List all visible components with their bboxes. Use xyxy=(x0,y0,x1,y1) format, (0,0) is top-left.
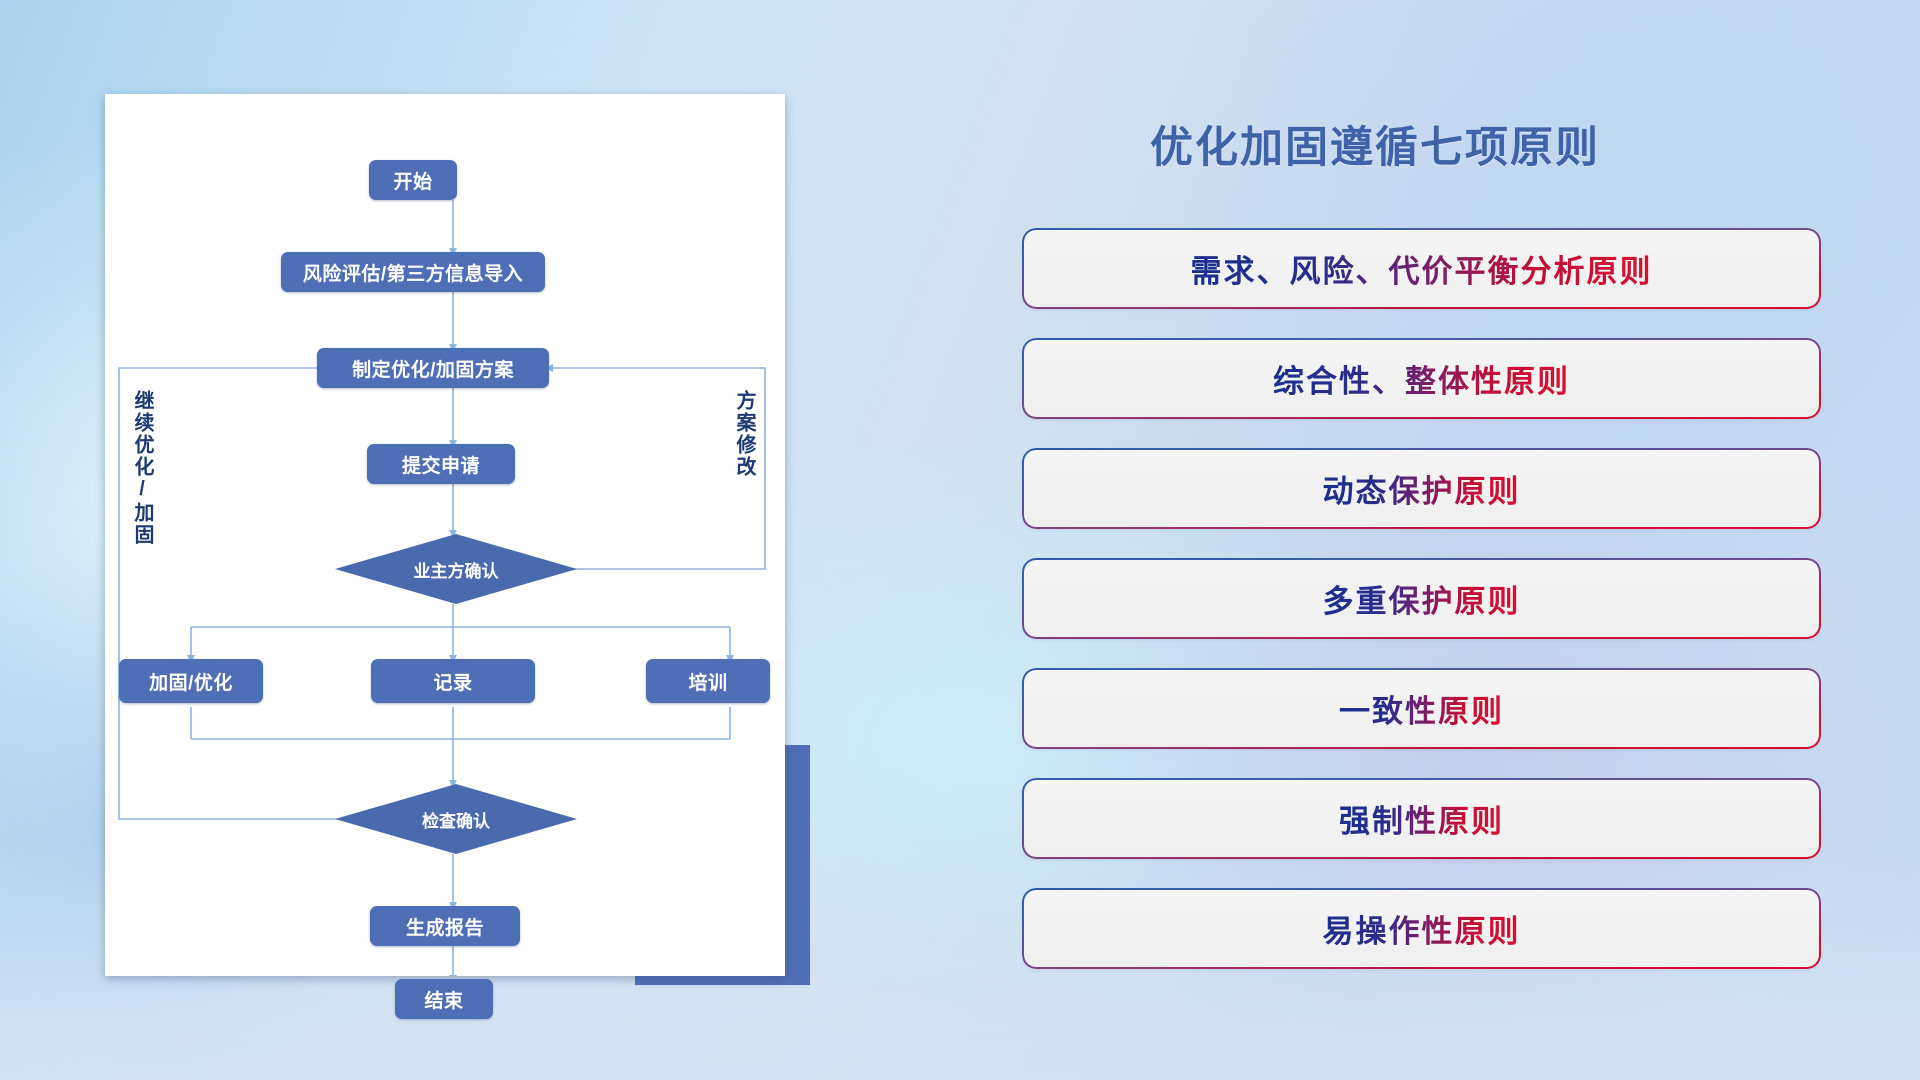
flow-node-start[interactable]: 开始 xyxy=(369,160,457,200)
principle-item[interactable]: 需求、风险、代价平衡分析原则 xyxy=(1024,230,1819,307)
flow-node-label: 培训 xyxy=(688,668,727,695)
principles-list: 需求、风险、代价平衡分析原则 综合性、整体性原则 动态保护原则 多重保护原则 一… xyxy=(1024,230,1819,1000)
edge-label-continue-optimize: 继续优化/加固 xyxy=(131,390,152,546)
flow-node-end[interactable]: 结束 xyxy=(395,979,493,1019)
principle-label: 一致性原则 xyxy=(1339,686,1504,731)
principle-item[interactable]: 综合性、整体性原则 xyxy=(1024,340,1819,417)
principle-label: 强制性原则 xyxy=(1339,796,1504,841)
principle-label: 多重保护原则 xyxy=(1323,576,1521,621)
flow-node-label: 检查确认 xyxy=(422,807,490,832)
principle-item[interactable]: 易操作性原则 xyxy=(1024,890,1819,967)
principle-label: 易操作性原则 xyxy=(1323,906,1521,951)
flow-node-label: 提交申请 xyxy=(402,451,480,478)
flowchart-card: 开始 风险评估/第三方信息导入 制定优化/加固方案 提交申请 业主方确认 加固/… xyxy=(105,94,785,976)
flow-node-label: 加固/优化 xyxy=(149,668,233,695)
flow-node-label: 记录 xyxy=(433,668,472,695)
flow-node-risk-assessment[interactable]: 风险评估/第三方信息导入 xyxy=(281,252,545,292)
flow-node-owner-confirm[interactable]: 业主方确认 xyxy=(335,534,577,604)
principle-label: 动态保护原则 xyxy=(1323,466,1521,511)
flow-node-label: 开始 xyxy=(393,167,432,194)
flow-node-submit-application[interactable]: 提交申请 xyxy=(367,444,515,484)
principle-label: 需求、风险、代价平衡分析原则 xyxy=(1191,246,1653,291)
principle-item[interactable]: 一致性原则 xyxy=(1024,670,1819,747)
flow-node-label: 业主方确认 xyxy=(414,557,499,582)
flow-node-label: 风险评估/第三方信息导入 xyxy=(303,259,523,286)
flow-node-training[interactable]: 培训 xyxy=(646,659,770,703)
principle-item[interactable]: 强制性原则 xyxy=(1024,780,1819,857)
page-title: 优化加固遵循七项原则 xyxy=(1150,113,1600,175)
principle-item[interactable]: 动态保护原则 xyxy=(1024,450,1819,527)
edge-label-plan-revision: 方案修改 xyxy=(733,390,754,478)
principle-item[interactable]: 多重保护原则 xyxy=(1024,560,1819,637)
flowchart: 开始 风险评估/第三方信息导入 制定优化/加固方案 提交申请 业主方确认 加固/… xyxy=(105,94,785,976)
slide-canvas: 开始 风险评估/第三方信息导入 制定优化/加固方案 提交申请 业主方确认 加固/… xyxy=(0,0,1920,1080)
flow-node-generate-report[interactable]: 生成报告 xyxy=(370,906,520,946)
flow-node-reinforce-optimize[interactable]: 加固/优化 xyxy=(119,659,263,703)
flow-node-label: 生成报告 xyxy=(406,913,484,940)
flow-node-label: 结束 xyxy=(424,986,463,1013)
principle-label: 综合性、整体性原则 xyxy=(1273,356,1570,401)
flow-node-label: 制定优化/加固方案 xyxy=(352,355,514,382)
flow-node-make-plan[interactable]: 制定优化/加固方案 xyxy=(317,348,549,388)
flow-node-check-confirm[interactable]: 检查确认 xyxy=(335,784,577,854)
flow-node-record[interactable]: 记录 xyxy=(371,659,535,703)
